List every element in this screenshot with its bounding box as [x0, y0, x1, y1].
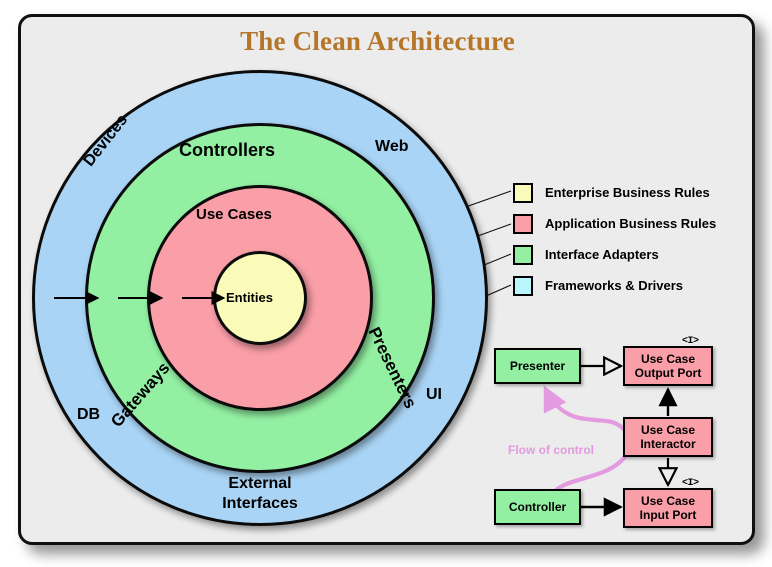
flow-box-line-2: Input Port	[640, 508, 697, 522]
flow-box-label: Controller	[509, 500, 566, 514]
flow-of-control-label: Flow of control	[508, 443, 594, 457]
diagram-canvas: The Clean Architecture Controllers Use C…	[0, 0, 772, 567]
flow-box-line-1: Use Case	[641, 352, 695, 366]
flow-box-line-1: Use Case	[641, 494, 695, 508]
interface-marker-output-port: <I>	[682, 336, 699, 347]
flow-box-label: Use Case Input Port	[640, 494, 697, 522]
flow-box-line-2: Interactor	[640, 437, 695, 451]
flow-box-label: Use Case Interactor	[640, 423, 695, 451]
flow-box-label: Presenter	[510, 359, 565, 373]
flow-diagram: Presenter Controller Use Case Output Por…	[0, 0, 772, 567]
flow-box-line-2: Output Port	[635, 366, 702, 380]
flow-box-use-case-output-port[interactable]: Use Case Output Port	[623, 346, 713, 386]
flow-box-controller[interactable]: Controller	[494, 489, 581, 525]
flow-box-line-1: Use Case	[641, 423, 695, 437]
flow-box-use-case-input-port[interactable]: Use Case Input Port	[623, 488, 713, 528]
flow-box-use-case-interactor[interactable]: Use Case Interactor	[623, 417, 713, 457]
flow-box-label: Use Case Output Port	[635, 352, 702, 380]
flow-box-presenter[interactable]: Presenter	[494, 348, 581, 384]
interface-marker-input-port: <I>	[682, 478, 699, 489]
